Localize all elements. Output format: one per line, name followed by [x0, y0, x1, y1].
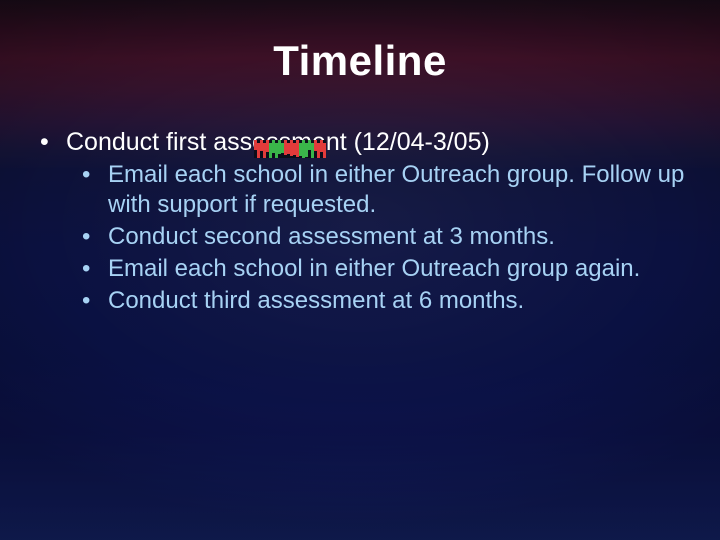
slide-body: • Conduct first assessment (12/04-3/05) …	[30, 128, 694, 318]
bullet-level2-item: • Conduct third assessment at 6 months.	[30, 286, 694, 317]
bullet-marker-icon: •	[82, 222, 90, 253]
bullet-marker-icon: •	[82, 286, 90, 317]
bullet-level2-item: • Email each school in either Outreach g…	[30, 254, 694, 285]
bullet-text: Email each school in either Outreach gro…	[108, 255, 640, 282]
bullet-level2-item: • Email each school in either Outreach g…	[30, 160, 694, 222]
bullet-marker-icon: •	[82, 254, 90, 285]
bullet-text: Conduct second assessment at 3 months.	[108, 223, 555, 250]
slide-title: Timeline	[0, 38, 720, 84]
bullet-text: Conduct third assessment at 6 months.	[108, 287, 524, 314]
slide-background-bottom	[0, 360, 720, 540]
bullet-level1-item: • Conduct first assessment (12/04-3/05)	[30, 128, 694, 158]
slide: Timeline • Conduct first assessment (12/…	[0, 0, 720, 540]
bullet-marker-icon: •	[40, 128, 49, 158]
bullet-text: Email each school in either Outreach gro…	[108, 161, 684, 219]
corrupted-glyph-artifact	[254, 140, 326, 158]
bullet-level2-item: • Conduct second assessment at 3 months.	[30, 222, 694, 253]
bullet-marker-icon: •	[82, 160, 90, 191]
